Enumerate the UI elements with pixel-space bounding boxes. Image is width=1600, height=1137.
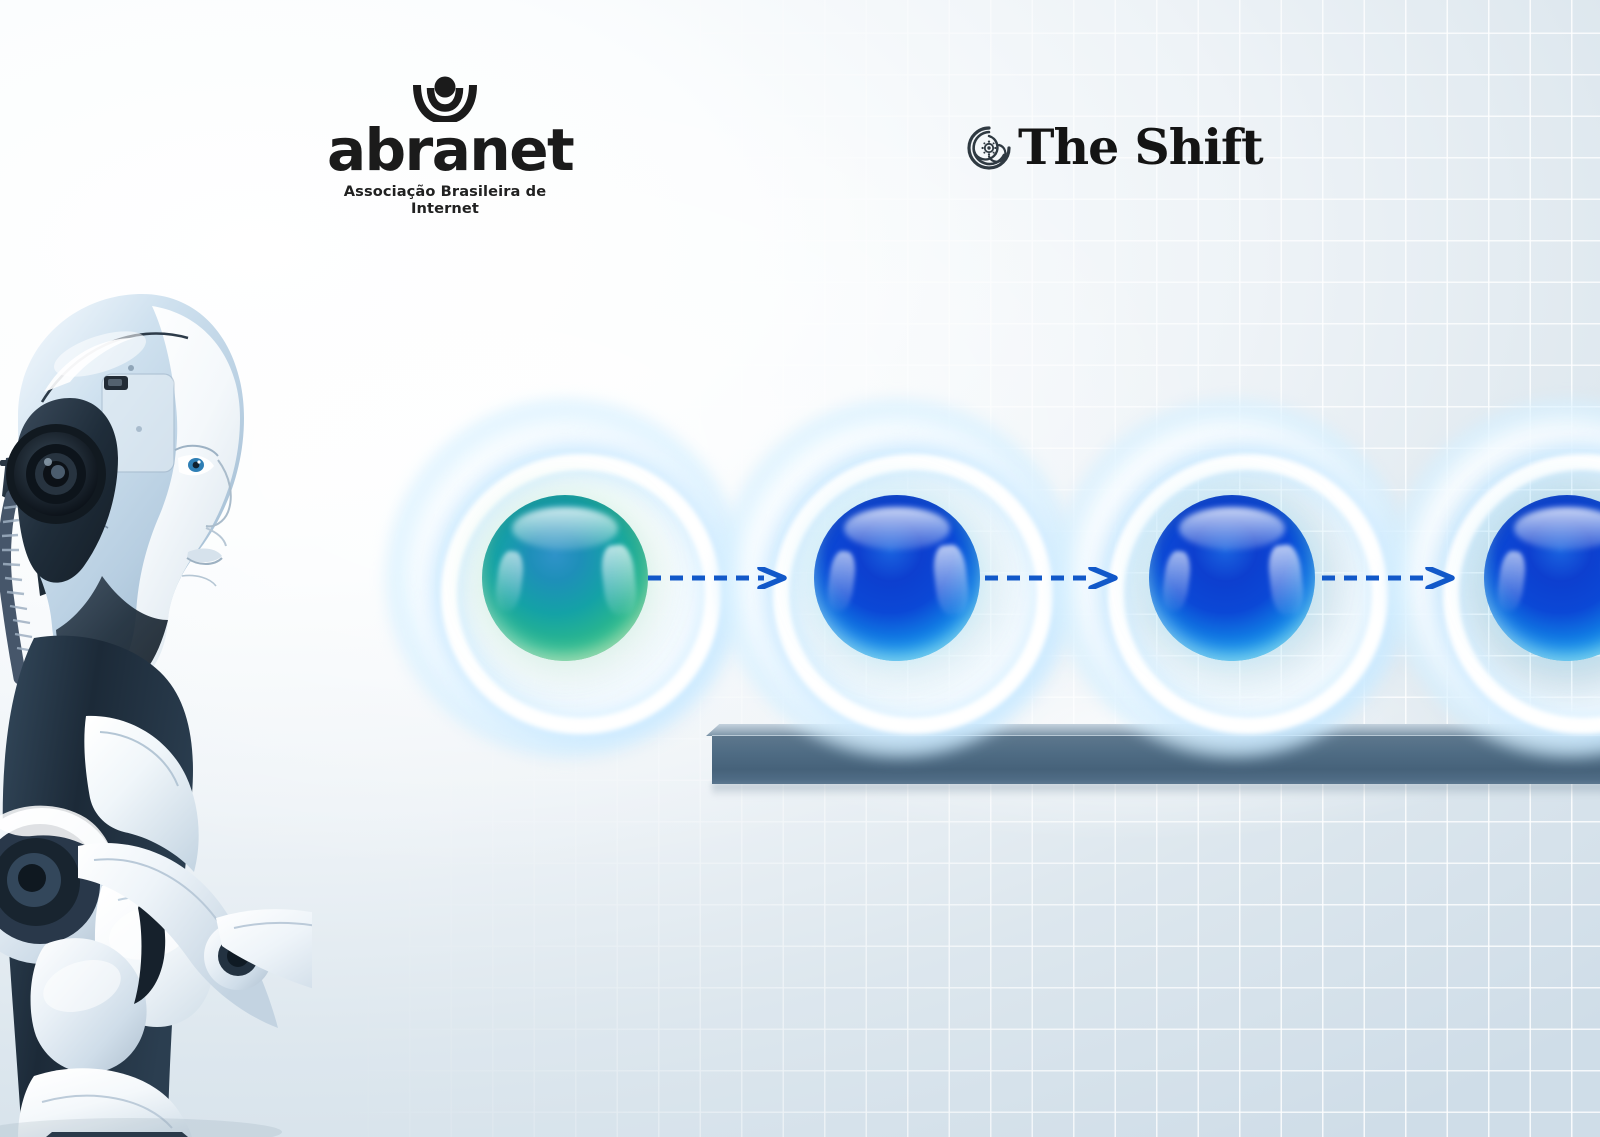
flow-arrow-2 bbox=[985, 567, 1119, 589]
robot-contact-shadow bbox=[0, 1118, 282, 1137]
robot-head bbox=[6, 294, 244, 695]
flow-arrow-3 bbox=[1322, 567, 1456, 589]
scene-canvas: abranet Associação Brasileira de Interne… bbox=[0, 0, 1600, 1137]
flow-arrow-1 bbox=[648, 567, 788, 589]
orb-sphere bbox=[1149, 495, 1315, 661]
logo-the-shift[interactable]: The Shift bbox=[966, 116, 1263, 178]
orb-sphere bbox=[814, 495, 980, 661]
logo-abranet[interactable]: abranet Associação Brasileira de Interne… bbox=[327, 74, 563, 209]
orb-sphere bbox=[482, 495, 648, 661]
abranet-tagline: Associação Brasileira de Internet bbox=[327, 183, 563, 217]
abranet-wordmark: abranet bbox=[327, 124, 563, 177]
orb-rim-light bbox=[814, 495, 980, 661]
abranet-arc-icon bbox=[409, 74, 481, 122]
orb-rim-light bbox=[1149, 495, 1315, 661]
the-shift-spiral-icon bbox=[966, 125, 1012, 171]
humanoid-robot bbox=[0, 246, 312, 1137]
the-shift-wordmark: The Shift bbox=[1018, 123, 1263, 172]
platform-shadow bbox=[712, 783, 1600, 797]
orb-rim-light bbox=[482, 495, 648, 661]
